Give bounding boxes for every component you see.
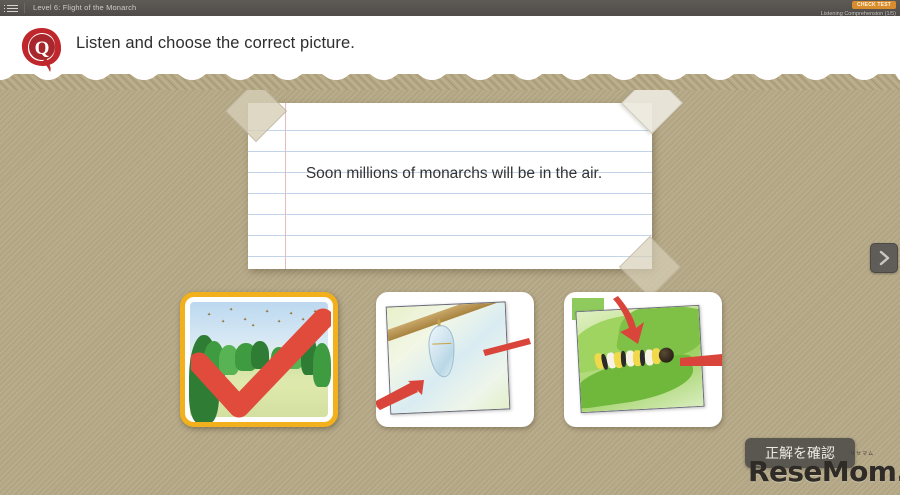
lesson-screen: Level 6: Flight of the Monarch CHECK TES… — [0, 0, 900, 495]
section-progress-label: Listening Comprehension (1/5) — [821, 11, 896, 18]
answer-option-3[interactable] — [564, 292, 722, 427]
answer-option-2[interactable] — [376, 292, 534, 427]
option-3-image — [564, 292, 722, 427]
next-page-button[interactable] — [870, 243, 898, 273]
note-margin-line — [285, 103, 286, 269]
hamburger-menu-icon[interactable] — [0, 0, 24, 16]
answer-options: ✦ ✦ ✦ ✦ ✦ ✦ ✦ ✦ ✦ ✦ ✦ — [0, 292, 900, 432]
topbar-right-group: CHECK TEST Listening Comprehension (1/5) — [821, 0, 896, 18]
note-sentence: Soon millions of monarchs will be in the… — [304, 161, 604, 187]
option-2-image — [376, 292, 534, 427]
pointer-arrow-right — [471, 334, 531, 360]
topbar-divider — [24, 3, 25, 13]
lesson-title: Level 6: Flight of the Monarch — [33, 0, 136, 16]
question-badge-letter: Q — [35, 38, 50, 59]
pointer-arrow-left — [676, 352, 722, 370]
question-prompt: Listen and choose the correct picture. — [76, 34, 355, 53]
question-badge: Q — [16, 24, 68, 74]
option-1-image: ✦ ✦ ✦ ✦ ✦ ✦ ✦ ✦ ✦ ✦ ✦ — [185, 297, 333, 422]
test-badge: CHECK TEST — [852, 1, 896, 9]
top-bar: Level 6: Flight of the Monarch CHECK TES… — [0, 0, 900, 16]
pointer-arrow-down — [610, 294, 650, 346]
answer-option-1[interactable]: ✦ ✦ ✦ ✦ ✦ ✦ ✦ ✦ ✦ ✦ ✦ — [180, 292, 338, 427]
chevron-right-icon — [878, 250, 890, 266]
transcript-note-card: Soon millions of monarchs will be in the… — [248, 103, 652, 269]
pointer-arrow-upright — [376, 380, 436, 410]
correct-check-icon — [191, 307, 331, 419]
check-answer-button[interactable]: 正解を確認 — [745, 438, 855, 468]
scalloped-divider — [0, 74, 900, 90]
